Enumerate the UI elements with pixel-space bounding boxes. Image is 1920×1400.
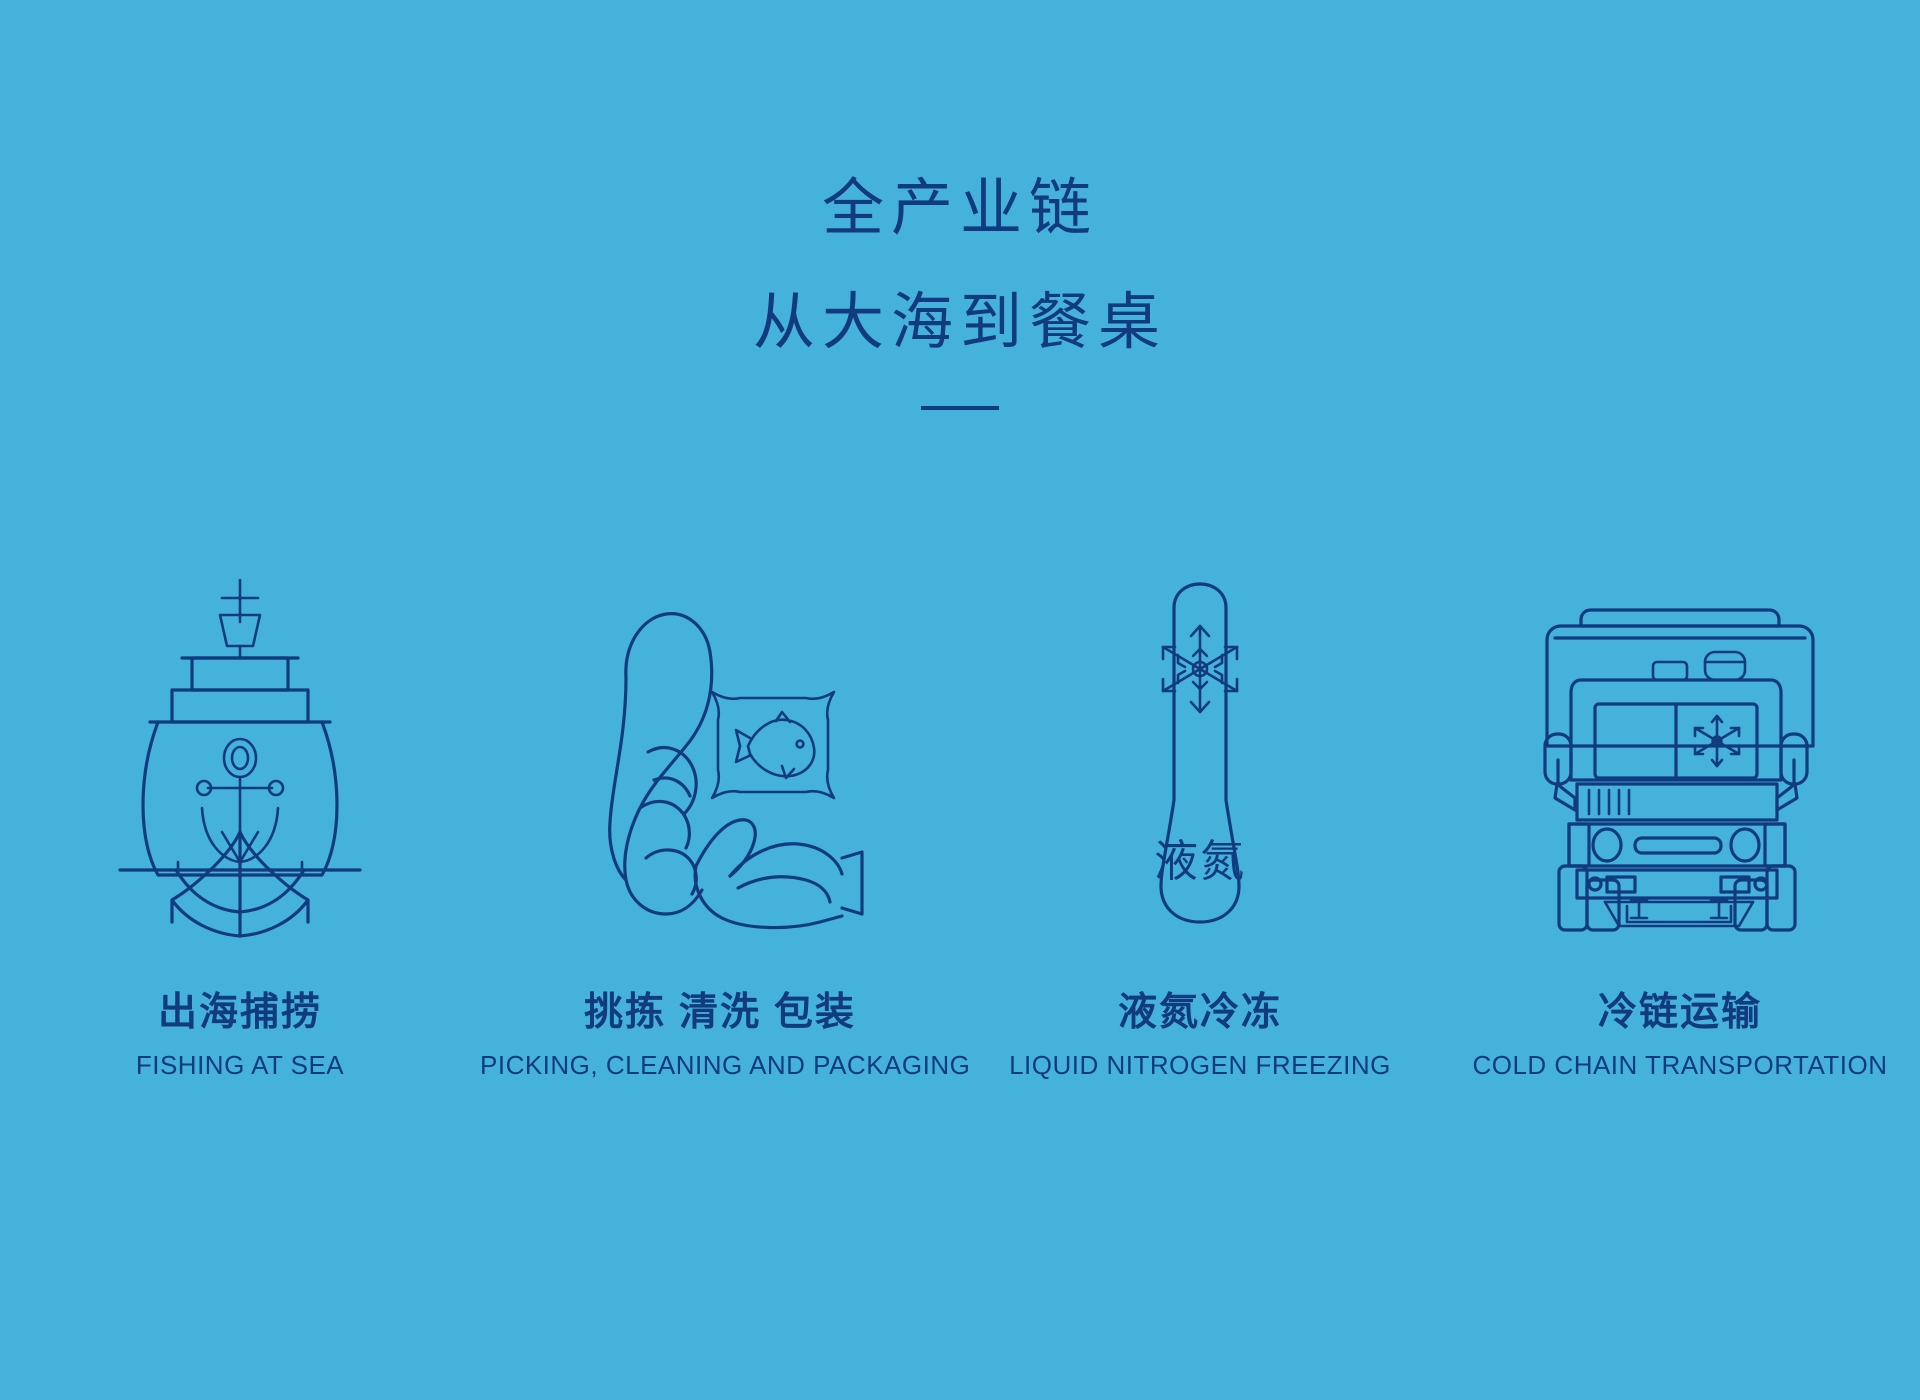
step-label-en: PICKING, CLEANING AND PACKAGING bbox=[480, 1051, 960, 1080]
title-divider-wrap bbox=[0, 406, 1920, 410]
title-divider bbox=[921, 406, 999, 410]
step-label-en: FISHING AT SEA bbox=[0, 1051, 480, 1080]
step-label-en: LIQUID NITROGEN FREEZING bbox=[960, 1051, 1440, 1080]
step-labels: 挑拣 清洗 包装 PICKING, CLEANING AND PACKAGING bbox=[480, 992, 960, 1079]
step-labels: 冷链运输 COLD CHAIN TRANSPORTATION bbox=[1440, 992, 1920, 1079]
step-labels: 出海捕捞 FISHING AT SEA bbox=[0, 992, 480, 1079]
step-fishing-at-sea[interactable]: 出海捕捞 FISHING AT SEA bbox=[0, 530, 480, 1079]
liquid-nitrogen-tank-icon: 液氮 bbox=[1115, 530, 1285, 930]
page-header: 全产业链 从大海到餐桌 bbox=[0, 0, 1920, 410]
step-label-cn: 挑拣 清洗 包装 bbox=[480, 992, 960, 1035]
step-label-cn: 出海捕捞 bbox=[0, 992, 480, 1035]
step-label-cn: 冷链运输 bbox=[1440, 992, 1920, 1035]
step-label-cn: 液氮冷冻 bbox=[960, 992, 1440, 1035]
step-cold-chain-transportation[interactable]: 冷链运输 COLD CHAIN TRANSPORTATION bbox=[1440, 530, 1920, 1079]
step-picking-cleaning-packaging[interactable]: 挑拣 清洗 包装 PICKING, CLEANING AND PACKAGING bbox=[480, 530, 960, 1079]
fishing-boat-with-anchor-icon bbox=[110, 530, 370, 930]
tank-text: 液氮 bbox=[1154, 837, 1246, 886]
step-label-en: COLD CHAIN TRANSPORTATION bbox=[1440, 1051, 1920, 1080]
page-title-line-2: 从大海到餐桌 bbox=[0, 292, 1920, 354]
hands-with-packaged-fish-icon bbox=[570, 530, 870, 930]
snowflake-icon bbox=[1695, 716, 1739, 766]
process-steps: 出海捕捞 FISHING AT SEA bbox=[0, 530, 1920, 1079]
step-labels: 液氮冷冻 LIQUID NITROGEN FREEZING bbox=[960, 992, 1440, 1079]
refrigerated-truck-icon bbox=[1535, 530, 1825, 930]
step-liquid-nitrogen-freezing[interactable]: 液氮 液氮冷冻 LIQUID NITROGEN FREEZING bbox=[960, 530, 1440, 1079]
page-title-line-1: 全产业链 bbox=[0, 178, 1920, 240]
